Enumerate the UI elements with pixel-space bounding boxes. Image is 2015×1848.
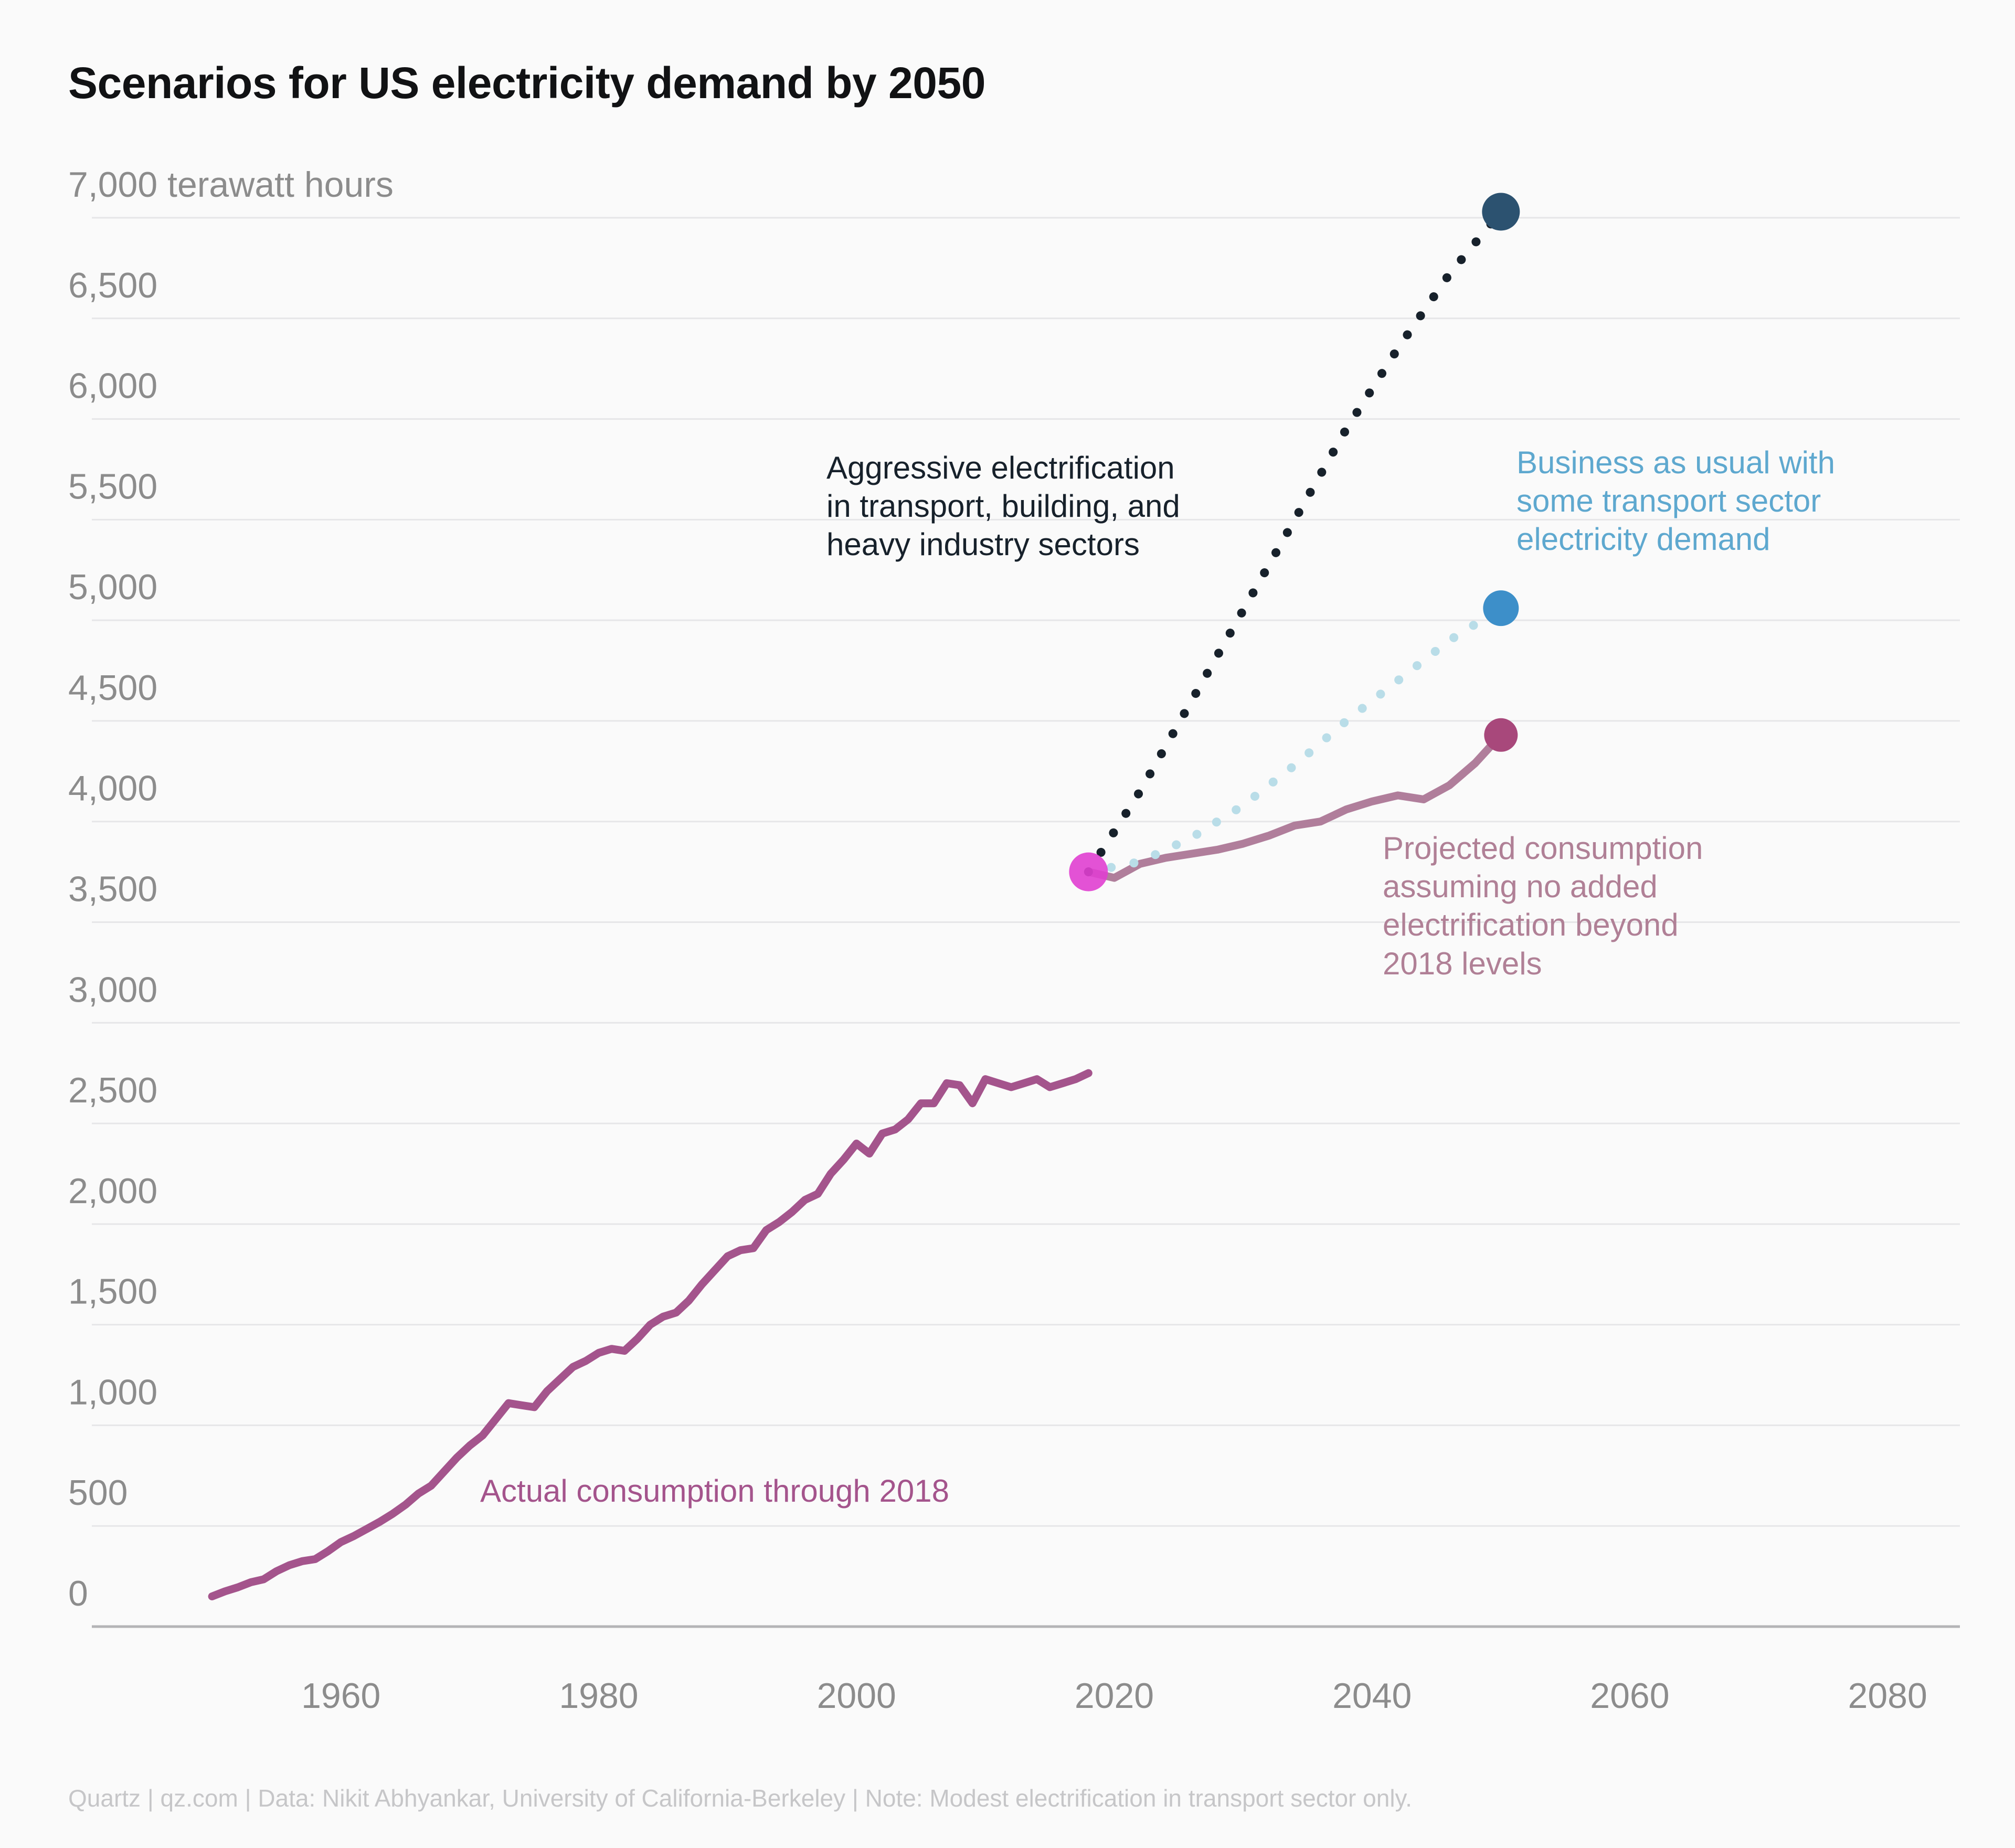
x-axis-tick-label: 2080 <box>1848 1676 1927 1716</box>
y-axis-tick-label: 4,000 <box>68 769 157 809</box>
annotation-aggressive-electrification: Aggressive electrification in transport,… <box>826 449 1299 564</box>
y-axis-tick-label: 7,000 terawatt hours <box>68 165 394 205</box>
annotation-business-as-usual: Business as usual with some transport se… <box>1516 443 1931 559</box>
endpoint-dot-business-as-usual <box>1483 590 1519 626</box>
y-axis-tick-label: 2,000 <box>68 1171 157 1211</box>
y-axis-tick-label: 2,500 <box>68 1070 157 1110</box>
endpoint-dot-projected <box>1484 718 1518 752</box>
y-axis-tick-label: 1,000 <box>68 1372 157 1412</box>
y-axis-tick-label: 3,000 <box>68 970 157 1010</box>
x-axis-tick-label: 2000 <box>817 1676 896 1716</box>
x-axis-tick-label: 2040 <box>1332 1676 1412 1716</box>
endpoint-dot-aggressive <box>1482 193 1520 230</box>
source-footer: Quartz | qz.com | Data: Nikit Abhyankar,… <box>68 1784 1412 1812</box>
y-axis-tick-label: 3,500 <box>68 869 157 909</box>
x-axis-tick-label: 1960 <box>301 1676 380 1716</box>
y-axis-tick-label: 1,500 <box>68 1272 157 1312</box>
series-line <box>212 1073 1088 1596</box>
y-axis-tick-label: 6,500 <box>68 265 157 305</box>
y-axis-tick-label: 500 <box>68 1473 128 1513</box>
x-axis-tick-label: 2060 <box>1590 1676 1669 1716</box>
y-axis-tick-label: 0 <box>68 1574 88 1613</box>
chart-page: Scenarios for US electricity demand by 2… <box>0 0 2015 1848</box>
x-axis-tick-label: 2020 <box>1075 1676 1154 1716</box>
branch-point-dot-2018 <box>1069 853 1108 891</box>
y-axis-tick-label: 6,000 <box>68 366 157 406</box>
y-axis-tick-label: 5,000 <box>68 567 157 607</box>
x-axis-tick-label: 1980 <box>559 1676 638 1716</box>
y-axis-tick-label: 5,500 <box>68 466 157 506</box>
annotation-projected-consumption: Projected consumption assuming no added … <box>1383 829 1818 983</box>
y-axis-tick-label: 4,500 <box>68 668 157 708</box>
annotation-actual-consumption: Actual consumption through 2018 <box>480 1472 949 1510</box>
